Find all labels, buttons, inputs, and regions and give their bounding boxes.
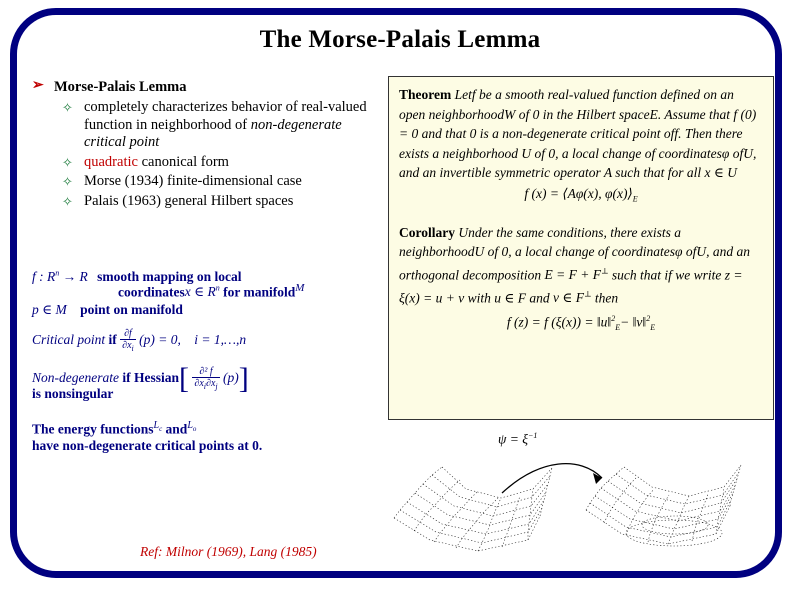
- corollary-equation: f (z) = f (ξ(x)) = ‖u‖2E− ‖v‖2E: [399, 309, 763, 338]
- theorem-box: Theorem Letf be a smooth real-valued fun…: [388, 76, 774, 420]
- saddle-surface-mesh-left: [394, 467, 552, 551]
- math-W: W: [504, 107, 515, 122]
- math-phi-cor: φ: [675, 244, 682, 259]
- list-item-label: completely characterizes behavior of rea…: [84, 99, 367, 150]
- theorem-text-5: and that 0 is a non-degenerate critical …: [422, 126, 675, 141]
- definitions-block: f : Rn → R smooth mapping on local coord…: [32, 268, 384, 456]
- math-U-2: U: [743, 146, 753, 161]
- definition-point-label: point on manifold: [80, 302, 183, 317]
- theorem-statement: Theorem Letf be a smooth real-valued fun…: [399, 85, 763, 183]
- theorem-heading: Theorem: [399, 87, 451, 102]
- theorem-text-8: of: [733, 146, 744, 161]
- math-phi: φ: [722, 146, 729, 161]
- math-A: A: [604, 165, 612, 180]
- math-L-o: Lo: [187, 420, 196, 431]
- critical-point-if: if: [109, 332, 117, 347]
- corollary-text-5: such that if we write: [612, 267, 722, 282]
- list-item: ✧ quadratic canonical form: [58, 154, 380, 172]
- math-x-in-Rn: x ∈ Rn: [185, 284, 220, 299]
- math-f-domain: f : Rn → R: [32, 269, 88, 284]
- list-item-label: Morse-Palais Lemma: [54, 79, 186, 95]
- energy-functions-label: The energy functions: [32, 422, 154, 437]
- saddle-surface-mesh-right: [586, 465, 741, 546]
- arrow-bullet-icon: ➢: [32, 77, 44, 95]
- math-U-cor: U: [475, 244, 485, 259]
- figure-map-label: ψ = ξ−1: [498, 431, 537, 448]
- diamond-bullet-icon: ✧: [62, 99, 73, 117]
- surface-plots-svg: [390, 448, 780, 573]
- list-item: ➢ Morse-Palais Lemma: [30, 78, 380, 96]
- non-degenerate-label: Non-degenerate: [32, 370, 119, 385]
- slide-canvas: The Morse-Palais Lemma ➢ Morse-Palais Le…: [0, 0, 800, 600]
- math-p-in-M: p ∈ M: [32, 302, 67, 317]
- corollary-with: with: [468, 290, 491, 305]
- corollary-text-3: of: [686, 244, 697, 259]
- math-U-cor-2: U: [696, 244, 706, 259]
- list-item-label: Morse (1934) finite-dimensional case: [84, 173, 302, 189]
- corollary-and: and: [529, 290, 549, 305]
- theorem-text-10: such that for all: [615, 165, 701, 180]
- spacer: [399, 209, 763, 223]
- definition-non-degenerate: Non-degenerate if Hessian[ ∂² f ∂xi∂xj (…: [32, 366, 384, 402]
- diamond-bullet-icon: ✧: [62, 173, 73, 191]
- list-item: ✧ Morse (1934) finite-dimensional case: [58, 173, 380, 191]
- figure-surface-diagram: [390, 448, 780, 573]
- math-hessian-fraction: ∂² f ∂xi∂xj: [192, 366, 219, 392]
- math-orthogonal-decomposition: E = F + F⊥: [545, 267, 609, 282]
- math-u-in-F: u ∈ F: [494, 290, 526, 305]
- corollary-heading: Corollary: [399, 225, 455, 240]
- theorem-equation: f (x) = ⟨Aφ(x), φ(x)⟩E: [399, 184, 763, 209]
- definition-critical-point: Critical point if ∂f ∂xi (p) = 0, i = 1,…: [32, 328, 384, 354]
- math-U: U: [521, 146, 531, 161]
- theorem-text-3: of 0 in the Hilbert space: [519, 107, 650, 122]
- math-v-in-F-perp: v ∈ F⊥: [553, 290, 592, 305]
- bracket-close-icon: ]: [239, 366, 249, 392]
- diamond-bullet-icon: ✧: [62, 193, 73, 211]
- definition-mapping: f : Rn → R smooth mapping on local coord…: [32, 268, 384, 300]
- math-x-in-U: x ∈ U: [705, 165, 737, 180]
- definition-coordinates-label: coordinates: [118, 284, 185, 299]
- diamond-bullet-icon: ✧: [62, 154, 73, 172]
- corollary-then: then: [595, 290, 618, 305]
- reference-note: Ref: Milnor (1969), Lang (1985): [140, 544, 317, 560]
- math-M: M: [295, 282, 304, 294]
- definition-energy-functions: The energy functionsLc andLo have non-de…: [32, 420, 384, 454]
- list-item: ✧ Palais (1963) general Hilbert spaces: [58, 193, 380, 211]
- theorem-text-1: Let: [455, 87, 472, 102]
- list-item-label: quadratic canonical form: [84, 154, 229, 170]
- math-index-range: i = 1,…,n: [194, 332, 246, 347]
- theorem-text-7: of 0, a local change of coordinates: [535, 146, 722, 161]
- energy-and-label: and: [166, 422, 188, 437]
- hessian-label: if Hessian: [122, 370, 179, 385]
- list-item: ✧ completely characterizes behavior of r…: [58, 99, 380, 152]
- bracket-open-icon: [: [179, 366, 189, 392]
- math-L-c: Lc: [154, 420, 163, 431]
- math-E: E: [650, 107, 658, 122]
- definition-point: p ∈ M point on manifold: [32, 302, 384, 318]
- math-critical-eq: (p) = 0,: [139, 332, 181, 347]
- corollary-text-2: of 0, a local change of coordinates: [488, 244, 675, 259]
- energy-functions-tail: have non-degenerate critical points at 0…: [32, 438, 384, 454]
- math-hessian-at-p: (p): [223, 370, 239, 385]
- outline-list: ➢ Morse-Palais Lemma ✧ completely charac…: [30, 78, 380, 212]
- math-partial-f-partial-xi: ∂f ∂xi: [120, 328, 136, 354]
- definition-manifold-label: for manifold: [223, 284, 295, 299]
- list-item-label: Palais (1963) general Hilbert spaces: [84, 193, 293, 209]
- theorem-text-4: . Assume that: [658, 107, 730, 122]
- page-title: The Morse-Palais Lemma: [0, 26, 800, 54]
- critical-point-label: Critical point: [32, 332, 105, 347]
- math-f: f: [472, 87, 476, 102]
- corollary-statement: Corollary Under the same conditions, the…: [399, 223, 763, 308]
